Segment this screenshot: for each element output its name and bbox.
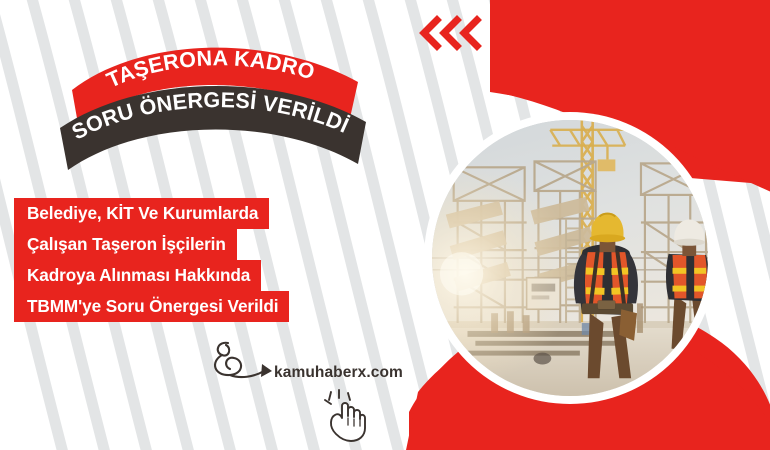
news-banner-graphic: TAŞERONA KADRO SORU ÖNERGESİ VERİLDİ Bel…: [0, 0, 770, 450]
chevron-left-icon: [464, 20, 477, 46]
chevron-left-icon: [444, 20, 457, 46]
curly-arrow-icon: [206, 338, 282, 384]
construction-site-illustration: [432, 120, 708, 396]
pointing-hand-cursor-icon: [322, 388, 380, 444]
site-url-label[interactable]: kamuhaberx.com: [274, 364, 403, 382]
arrow-head-icon: [261, 364, 272, 377]
headline-line-2: Çalışan Taşeron İşçilerin: [14, 229, 237, 260]
arched-banner-group: TAŞERONA KADRO SORU ÖNERGESİ VERİLDİ: [58, 48, 378, 168]
headline-block: Belediye, KİT Ve Kurumlarda Çalışan Taşe…: [14, 198, 289, 322]
construction-photo: [432, 120, 708, 396]
headline-line-3: Kadroya Alınması Hakkında: [14, 260, 261, 291]
chevron-left-icon: [424, 20, 437, 46]
headline-line-4: TBMM'ye Soru Önergesi Verildi: [14, 291, 289, 322]
headline-line-1: Belediye, KİT Ve Kurumlarda: [14, 198, 269, 229]
construction-photo-circle: [424, 112, 716, 404]
chevron-left-icon-group: [415, 12, 485, 54]
